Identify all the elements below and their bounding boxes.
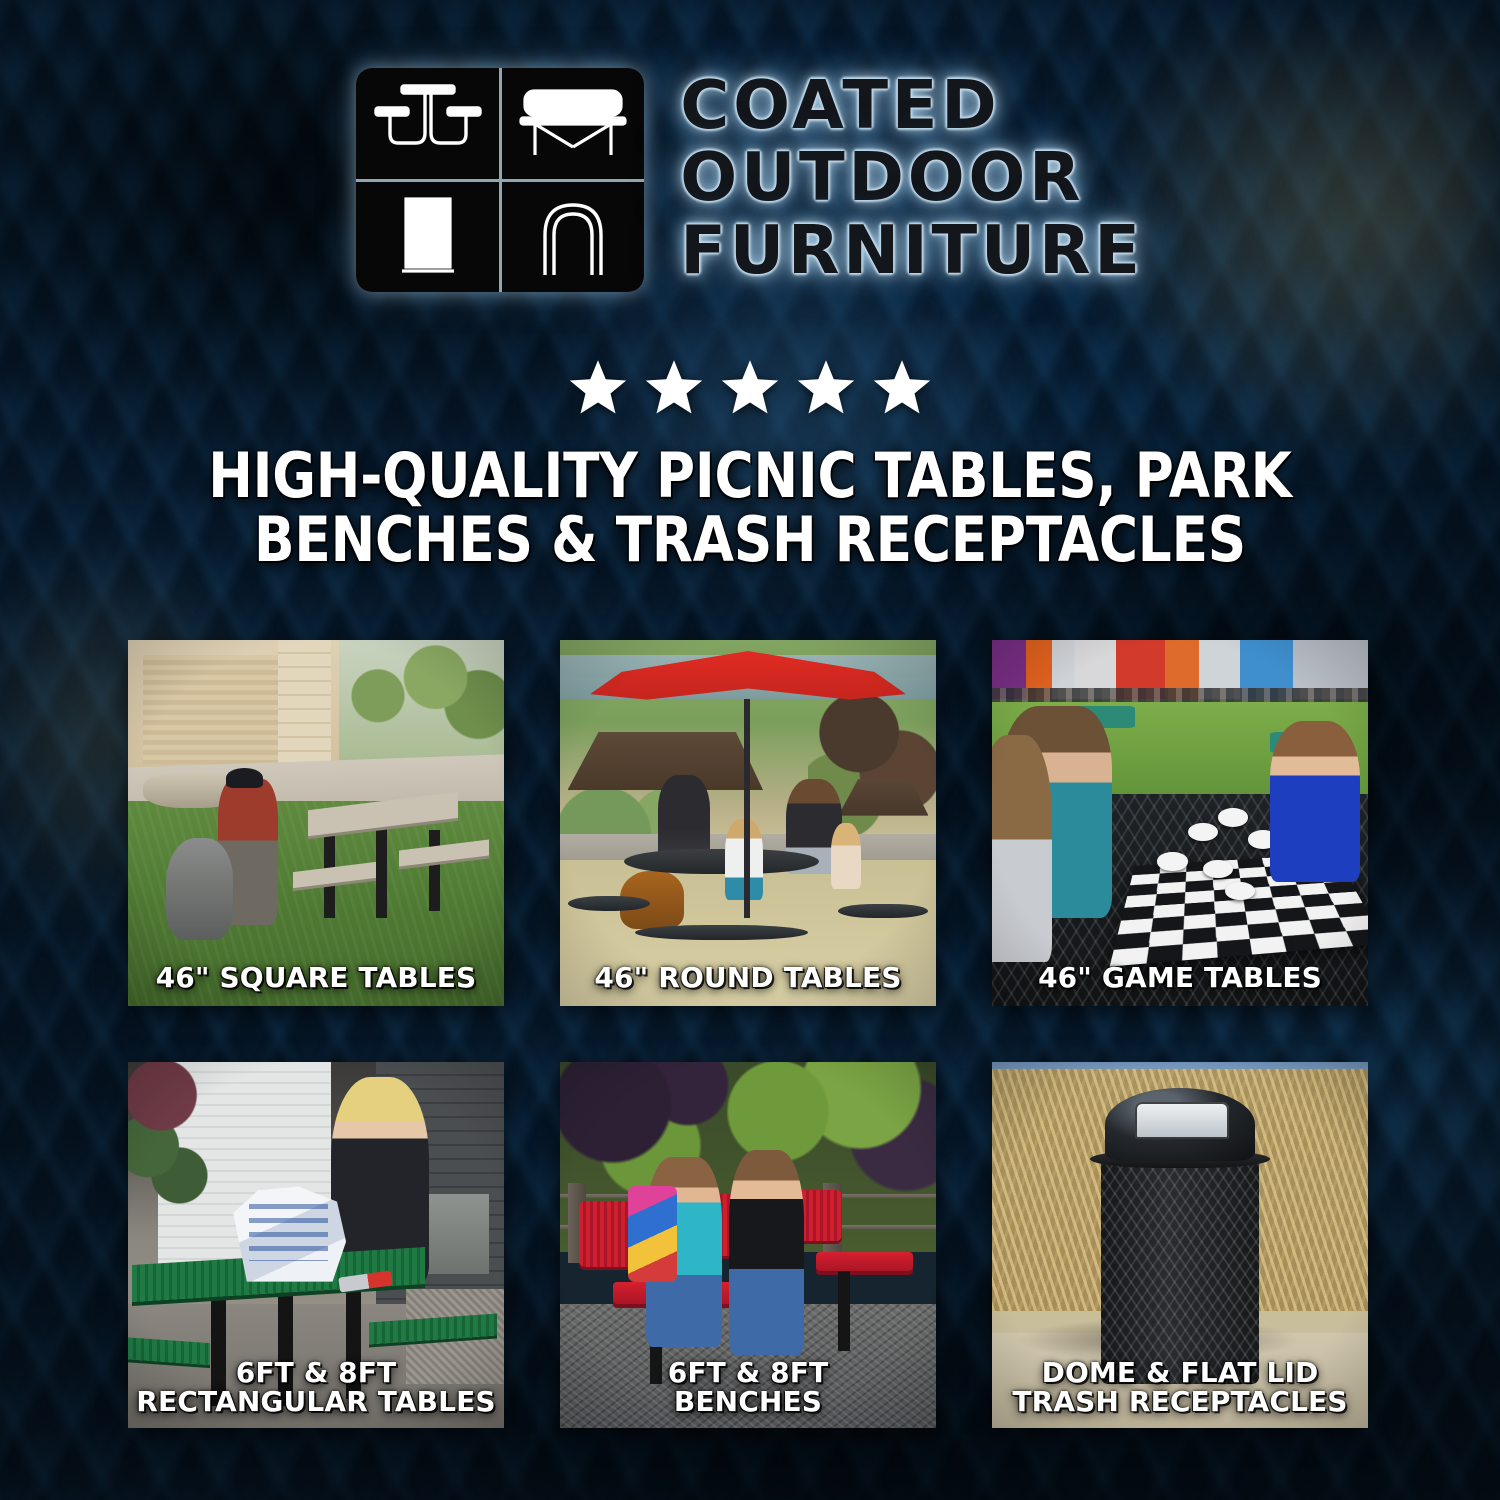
caption-line-1: 46" GAME TABLES (992, 963, 1368, 992)
logo-mark (356, 68, 644, 292)
product-tile-benches[interactable]: 6FT & 8FT BENCHES (560, 1062, 936, 1428)
star-icon (871, 358, 933, 418)
product-tile-round-tables[interactable]: 46" ROUND TABLES (560, 640, 936, 1006)
product-caption-benches: 6FT & 8FT BENCHES (560, 1358, 936, 1416)
headline-line-2: BENCHES & TRASH RECEPTACLES (105, 508, 1395, 572)
wordmark-line-2: OUTDOOR (680, 144, 1143, 210)
product-tile-rectangular-tables[interactable]: 6FT & 8FT RECTANGULAR TABLES (128, 1062, 504, 1428)
caption-line-1: 6FT & 8FT (560, 1358, 936, 1387)
product-grid: 46" SQUARE TABLES (128, 640, 1372, 1428)
bike-rack-arch-icon (502, 182, 645, 293)
caption-line-1: 46" SQUARE TABLES (128, 963, 504, 992)
product-caption-rectangular-tables: 6FT & 8FT RECTANGULAR TABLES (128, 1358, 504, 1416)
wordmark-line-1: COATED (680, 72, 1143, 138)
caption-line-2: BENCHES (560, 1387, 936, 1416)
star-icon (643, 358, 705, 418)
page-title: HIGH-QUALITY PICNIC TABLES, PARK BENCHES… (105, 444, 1395, 572)
trash-receptacle-icon (356, 182, 499, 293)
product-tile-trash-receptacles[interactable]: DOME & FLAT LID TRASH RECEPTACLES (992, 1062, 1368, 1428)
product-tile-game-tables[interactable]: 46" GAME TABLES (992, 640, 1368, 1006)
caption-line-1: DOME & FLAT LID (992, 1358, 1368, 1387)
caption-line-1: 6FT & 8FT (128, 1358, 504, 1387)
product-caption-game-tables: 46" GAME TABLES (992, 963, 1368, 992)
star-icon (795, 358, 857, 418)
star-icon (719, 358, 781, 418)
product-caption-square-tables: 46" SQUARE TABLES (128, 963, 504, 992)
caption-line-2: RECTANGULAR TABLES (128, 1387, 504, 1416)
picnic-table-icon (356, 68, 499, 179)
brand-logo: COATED OUTDOOR FURNITURE (0, 68, 1500, 292)
product-tile-square-tables[interactable]: 46" SQUARE TABLES (128, 640, 504, 1006)
caption-line-2: TRASH RECEPTACLES (992, 1387, 1368, 1416)
product-caption-trash-receptacles: DOME & FLAT LID TRASH RECEPTACLES (992, 1358, 1368, 1416)
headline-line-1: HIGH-QUALITY PICNIC TABLES, PARK (105, 444, 1395, 508)
product-caption-round-tables: 46" ROUND TABLES (560, 963, 936, 992)
brand-wordmark: COATED OUTDOOR FURNITURE (680, 68, 1143, 283)
star-icon (567, 358, 629, 418)
park-bench-icon (502, 68, 645, 179)
star-rating (0, 358, 1500, 418)
wordmark-line-3: FURNITURE (680, 217, 1143, 283)
caption-line-1: 46" ROUND TABLES (560, 963, 936, 992)
